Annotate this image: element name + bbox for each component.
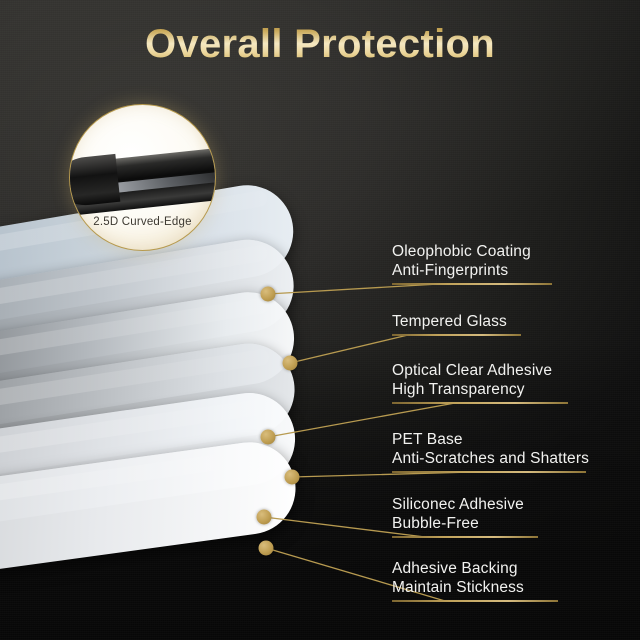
callout-line-1: Optical Clear Adhesive (392, 361, 568, 380)
phone-curved-tip-icon (69, 154, 120, 208)
callout-dot-siliconec-adhesive[interactable] (257, 510, 272, 525)
callout-underline (392, 600, 558, 602)
callout-line-2: Anti-Scratches and Shatters (392, 449, 589, 468)
callout-underline (392, 283, 552, 285)
callout-label-adhesive-backing: Adhesive BackingMaintain Stickness (392, 559, 558, 602)
callout-line-2: Maintain Stickness (392, 578, 558, 597)
callout-label-tempered-glass: Tempered Glass (392, 312, 521, 336)
callout-label-oleophobic-coating: Oleophobic CoatingAnti-Fingerprints (392, 242, 552, 285)
callout-line-1: PET Base (392, 430, 589, 449)
callout-dot-oleophobic-coating[interactable] (261, 287, 276, 302)
callout-line-2: Anti-Fingerprints (392, 261, 552, 280)
page-title: Overall Protection (0, 22, 640, 67)
callout-label-siliconec-adhesive: Siliconec AdhesiveBubble-Free (392, 495, 538, 538)
layer-stack (0, 250, 330, 610)
curved-edge-inset: 2.5D Curved-Edge (69, 104, 216, 251)
callout-line-2: Bubble-Free (392, 514, 538, 533)
callout-line-1: Siliconec Adhesive (392, 495, 538, 514)
callout-underline (392, 536, 538, 538)
callout-underline (392, 402, 568, 404)
callout-line-1: Tempered Glass (392, 312, 521, 331)
callout-label-pet-base: PET BaseAnti-Scratches and Shatters (392, 430, 589, 473)
callout-line-1: Adhesive Backing (392, 559, 558, 578)
callout-underline (392, 471, 586, 473)
callout-dot-adhesive-backing[interactable] (259, 541, 274, 556)
callout-dot-tempered-glass[interactable] (283, 356, 298, 371)
callout-dot-pet-base[interactable] (285, 470, 300, 485)
callout-line-1: Oleophobic Coating (392, 242, 552, 261)
poster-canvas: Overall Protection 2.5D Curved-Edge Oleo… (0, 0, 640, 640)
callout-line-2: High Transparency (392, 380, 568, 399)
callout-dot-optical-clear-adhesive[interactable] (261, 430, 276, 445)
callout-label-optical-clear-adhesive: Optical Clear AdhesiveHigh Transparency (392, 361, 568, 404)
callout-underline (392, 334, 521, 336)
inset-caption: 2.5D Curved-Edge (70, 216, 215, 228)
